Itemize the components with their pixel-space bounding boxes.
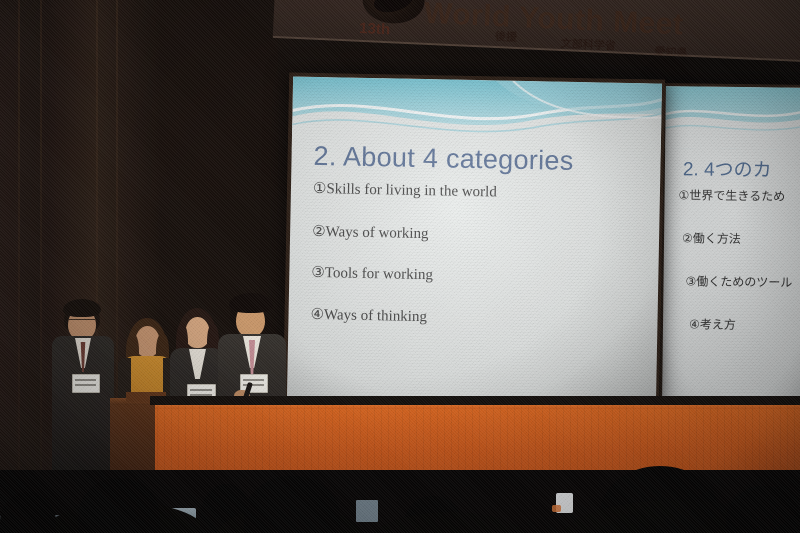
hair-front	[229, 293, 273, 313]
slide-title-japanese: 2. 4つのカ	[683, 154, 772, 182]
banner-support-label: 後援	[495, 28, 518, 45]
laptop-screen-glow	[356, 500, 378, 522]
hair-front	[63, 299, 101, 317]
slide-bullet-en-2: ②Ways of working	[312, 222, 429, 243]
slide-title-english: 2. About 4 categories	[313, 141, 574, 177]
slide-bullet-en-1: ①Skills for living in the world	[313, 179, 497, 202]
slide-english: 2. About 4 categories ①Skills for living…	[287, 76, 662, 404]
slide-bullet-en-4: ④Ways of thinking	[310, 305, 427, 326]
conference-photo: World Youth Meet 13th 後援 文部科学省 愛知県	[0, 0, 800, 533]
glasses-icon	[69, 319, 95, 326]
wall-panel	[0, 0, 20, 533]
slide-bullet-jp-4: ④考え方	[689, 315, 736, 333]
name-badge	[72, 374, 100, 393]
stage-shadow-strip	[150, 396, 800, 405]
slide-wave-graphic	[665, 86, 800, 150]
slide-japanese: 2. 4つのカ ①世界で生きるため ②働く方法 ③働くためのツール ④考え方	[662, 86, 800, 403]
slide-bullet-jp-1: ①世界で生きるため	[679, 186, 786, 204]
banner-event-title: World Youth Meet	[423, 0, 684, 43]
banner-edition: 13th	[359, 20, 391, 38]
slide-bullet-en-3: ③Tools for working	[311, 263, 433, 284]
slide-bullet-jp-2: ②働く方法	[682, 229, 741, 247]
wall-panel	[118, 0, 278, 200]
phone-screen-glow-accent	[552, 505, 561, 512]
slide-bullet-jp-3: ③働くためのツール	[685, 272, 792, 290]
presenter-1	[52, 300, 114, 480]
projection-screen-english: 2. About 4 categories ①Skills for living…	[283, 72, 665, 409]
projection-screen-japanese: 2. 4つのカ ①世界で生きるため ②働く方法 ③働くためのツール ④考え方	[659, 83, 800, 407]
